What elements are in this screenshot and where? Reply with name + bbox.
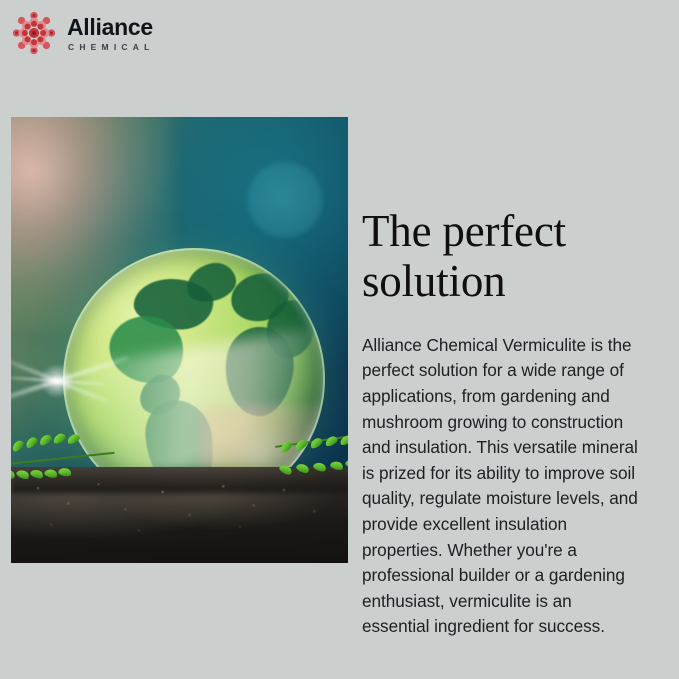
- sun-starburst-icon: [55, 379, 59, 383]
- content-column: The perfect solution Alliance Chemical V…: [362, 206, 640, 640]
- brand-subtitle: CHEMICAL: [68, 42, 154, 52]
- body-paragraph: Alliance Chemical Vermiculite is the per…: [362, 333, 640, 640]
- photo-bokeh-orb: [247, 162, 323, 238]
- brand-name: Alliance: [67, 16, 154, 39]
- brand-wordmark: Alliance CHEMICAL: [67, 14, 154, 52]
- brand-lockup: Alliance CHEMICAL: [11, 10, 154, 56]
- page-title: The perfect solution: [362, 206, 640, 307]
- green-glass-globe-photo: [11, 117, 348, 563]
- soil-grain-texture: [11, 467, 348, 563]
- starburst-core: [40, 364, 74, 398]
- soil-ground: [11, 467, 348, 563]
- molecule-radial-icon: [11, 10, 57, 56]
- photo-canvas: [11, 117, 348, 563]
